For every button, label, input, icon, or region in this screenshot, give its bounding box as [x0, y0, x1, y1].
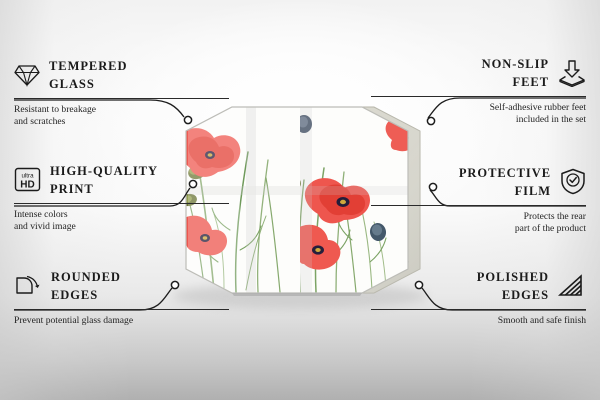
feature-title-line1: PROTECTIVE — [459, 166, 551, 180]
diagonal-hatch-icon — [558, 274, 586, 297]
feature-title-line1: HIGH-QUALITY — [50, 164, 158, 178]
poppy-flower — [305, 178, 370, 223]
feature-non-slip-feet[interactable]: NON-SLIP FEET Self-adhesive rubber feet … — [371, 55, 586, 127]
rubber-foot — [400, 134, 408, 142]
feature-title-line1: ROUNDED — [51, 270, 121, 284]
rubber-foot — [400, 258, 408, 266]
feature-title-line2: GLASS — [49, 77, 95, 91]
feature-title-line1: TEMPERED — [49, 59, 127, 73]
feature-desc-line2: and scratches — [14, 116, 65, 127]
poppy-bud — [284, 174, 303, 191]
rubber-foot — [326, 276, 334, 284]
feature-description: Intense colors and vivid image — [14, 209, 229, 234]
feature-desc-line1: Intense colors — [14, 209, 68, 220]
feature-desc-line2: included in the set — [516, 114, 586, 125]
feature-tempered-glass[interactable]: TEMPERED GLASS Resistant to breakage and… — [14, 57, 229, 129]
feature-description: Protects the rear part of the product — [371, 211, 586, 236]
feature-polished-edges[interactable]: POLISHED EDGES Smooth and safe finish — [371, 268, 586, 327]
feature-divider — [14, 309, 229, 310]
feature-title: TEMPERED GLASS — [49, 57, 127, 93]
feature-title-line2: PRINT — [50, 182, 94, 196]
ultra-hd-icon: ultra HD — [14, 167, 41, 192]
feature-title-line2: FILM — [515, 184, 551, 198]
feature-high-quality-print[interactable]: ultra HD HIGH-QUALITY PRINT Intense colo… — [14, 162, 229, 234]
feature-divider — [371, 205, 586, 206]
feature-desc-line2: part of the product — [515, 223, 586, 234]
poppy-bud — [296, 115, 312, 133]
ultra-hd-large-text: HD — [20, 180, 34, 191]
feature-divider — [14, 203, 229, 204]
feature-protective-film[interactable]: PROTECTIVE FILM Protects the rear part o… — [371, 164, 586, 236]
feature-desc-line2: and vivid image — [14, 221, 76, 232]
feature-divider — [371, 96, 586, 97]
feature-title: HIGH-QUALITY PRINT — [50, 162, 158, 198]
rounded-corner-icon — [14, 273, 42, 298]
feature-desc-line1: Resistant to breakage — [14, 104, 96, 115]
feature-divider — [14, 98, 229, 99]
feature-desc-line1: Smooth and safe finish — [498, 315, 586, 326]
feature-header: POLISHED EDGES — [371, 268, 586, 304]
feature-header: ultra HD HIGH-QUALITY PRINT — [14, 162, 229, 198]
feature-desc-line1: Protects the rear — [524, 211, 586, 222]
feature-desc-line1: Prevent potential glass damage — [14, 315, 133, 326]
feature-title: NON-SLIP FEET — [482, 55, 549, 91]
feature-header: ROUNDED EDGES — [14, 268, 229, 304]
press-down-pad-icon — [558, 59, 586, 87]
feature-title-line1: POLISHED — [477, 270, 549, 284]
feature-title: PROTECTIVE FILM — [459, 164, 551, 200]
poppy-flower — [292, 225, 340, 270]
feature-title-line2: EDGES — [51, 288, 98, 302]
feature-title-line2: EDGES — [502, 288, 549, 302]
feature-title-line2: FEET — [513, 75, 549, 89]
feature-description: Smooth and safe finish — [371, 315, 586, 328]
feature-desc-line1: Self-adhesive rubber feet — [490, 102, 586, 113]
feature-rounded-edges[interactable]: ROUNDED EDGES Prevent potential glass da… — [14, 268, 229, 327]
feature-description: Prevent potential glass damage — [14, 315, 229, 328]
rubber-foot — [326, 116, 334, 124]
feature-header: NON-SLIP FEET — [371, 55, 586, 91]
feature-description: Resistant to breakage and scratches — [14, 104, 229, 129]
ultra-hd-small-text: ultra — [21, 173, 34, 180]
shield-check-icon — [560, 168, 586, 195]
feature-title-line1: NON-SLIP — [482, 57, 549, 71]
infographic-canvas: TEMPERED GLASS Resistant to breakage and… — [0, 0, 600, 400]
diamond-icon — [14, 63, 40, 87]
feature-description: Self-adhesive rubber feet included in th… — [371, 102, 586, 127]
feature-title: POLISHED EDGES — [477, 268, 549, 304]
feature-header: TEMPERED GLASS — [14, 57, 229, 93]
feature-header: PROTECTIVE FILM — [371, 164, 586, 200]
feature-divider — [371, 309, 586, 310]
feature-title: ROUNDED EDGES — [51, 268, 121, 304]
